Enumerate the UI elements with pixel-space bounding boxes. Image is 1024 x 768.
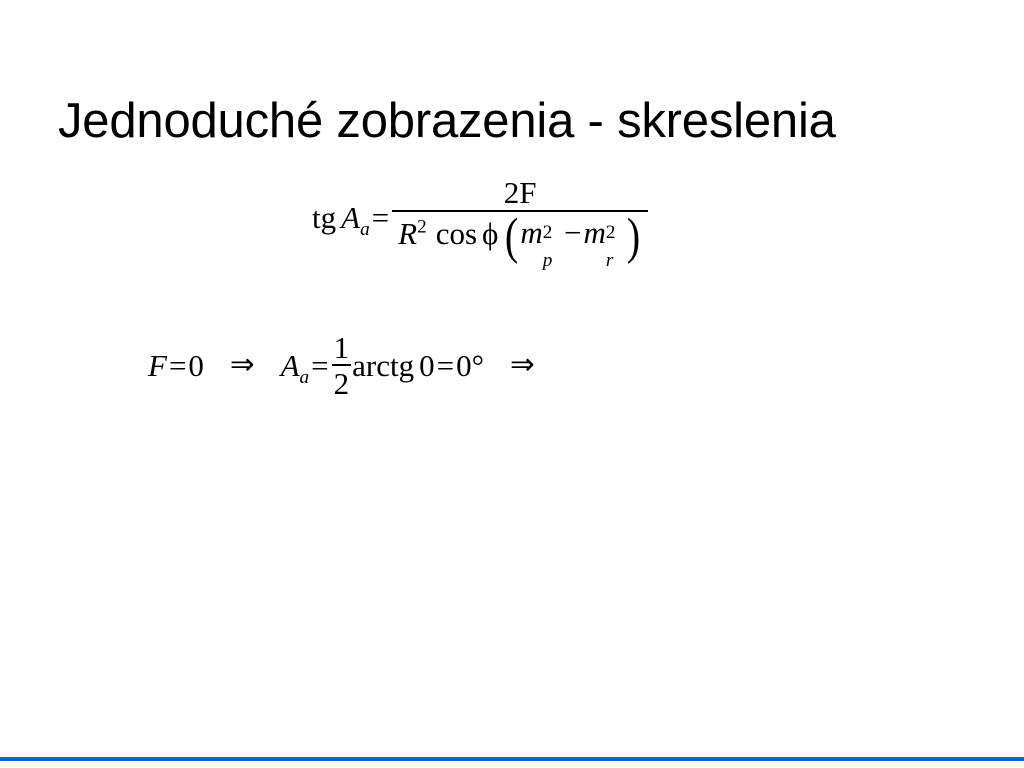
formula1-function-tg: tg xyxy=(312,202,336,233)
formula2-half-denominator: 2 xyxy=(332,366,352,399)
formula1-paren-close: ) xyxy=(627,215,640,258)
page-title: Jednoduché zobrazenia - skreslenia xyxy=(58,95,988,148)
tangent-skew-formula: tg Aa = 2F R2cosϕ(m2p−m2r) xyxy=(312,177,649,258)
formula1-numerator: 2F xyxy=(498,177,543,210)
formula1-variable-Aa: Aa xyxy=(341,202,370,233)
formula1-denominator: R2cosϕ(m2p−m2r) xyxy=(392,212,648,258)
slide-canvas: Jednoduché zobrazenia - skreslenia tg Aa… xyxy=(0,0,1024,768)
formula2-variable-F: F xyxy=(148,350,167,381)
formula2-result-0: 0 xyxy=(456,350,472,381)
formula1-equals: = xyxy=(372,202,389,233)
formula1-den-R: R xyxy=(398,215,417,250)
formula1-den-cos: cos xyxy=(436,215,477,250)
formula2-argument-0: 0 xyxy=(419,350,435,381)
formula2-half-fraction: 1 2 xyxy=(332,332,352,399)
zero-case-formula: F = 0 ⇒ Aa = 1 2 arctg 0 = 0° ⇒ xyxy=(148,332,535,399)
formula2-value-0: 0 xyxy=(188,350,204,381)
formula2-variable-Aa: Aa xyxy=(281,350,310,381)
formula2-degree-sign: ° xyxy=(472,350,484,381)
formula2-equals-2: = xyxy=(311,350,328,381)
footer-accent-rule xyxy=(0,757,1024,761)
formula2-equals-1: = xyxy=(169,350,186,381)
formula1-term-mp: m2p xyxy=(520,217,562,248)
formula1-fraction: 2F R2cosϕ(m2p−m2r) xyxy=(392,177,648,258)
formula2-implies-1: ⇒ xyxy=(230,351,255,380)
formula2-implies-2: ⇒ xyxy=(510,351,535,380)
formula1-minus: − xyxy=(564,215,581,250)
formula1-den-phi: ϕ xyxy=(482,215,498,250)
formula2-function-arctg: arctg xyxy=(352,350,414,381)
formula1-term-mr: m2r xyxy=(583,217,625,248)
formula2-equals-3: = xyxy=(437,350,454,381)
formula2-half-numerator: 1 xyxy=(332,332,352,364)
formula1-paren-open: ( xyxy=(505,215,518,258)
